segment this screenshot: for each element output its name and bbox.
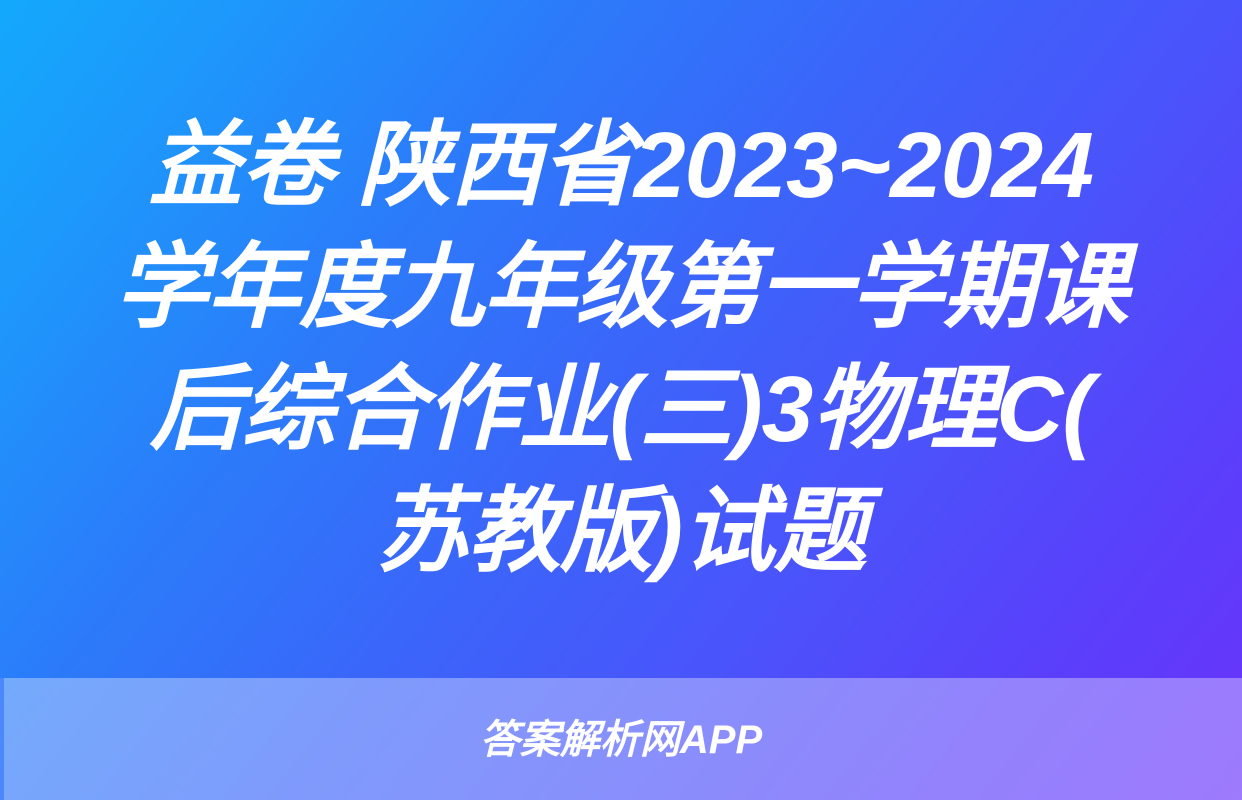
promo-banner: 益卷 陕西省2023~2024 学年度九年级第一学期课 后综合作业(三)3物理C…	[0, 0, 1242, 800]
page-title: 益卷 陕西省2023~2024 学年度九年级第一学期课 后综合作业(三)3物理C…	[0, 104, 1242, 592]
title-line-2: 学年度九年级第一学期课	[40, 226, 1202, 348]
title-line-4: 苏教版)试题	[40, 470, 1202, 592]
title-line-3: 后综合作业(三)3物理C(	[40, 348, 1202, 470]
title-line-1: 益卷 陕西省2023~2024	[40, 104, 1202, 226]
footer-left-accent-strip	[0, 678, 4, 800]
footer-brand-bar: 答案解析网APP	[0, 678, 1242, 800]
footer-brand-label: 答案解析网APP	[480, 716, 762, 764]
